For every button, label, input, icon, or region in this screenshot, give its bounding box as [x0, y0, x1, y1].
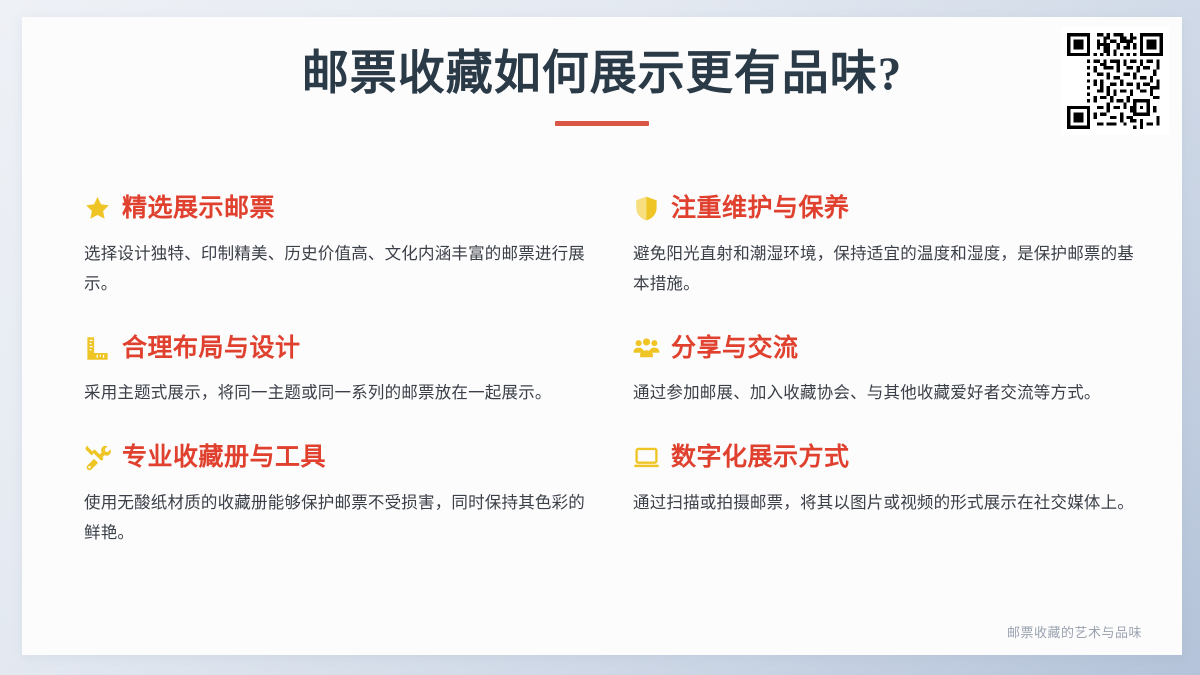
page-title: 邮票收藏如何展示更有品味?	[22, 47, 1182, 101]
ruler-icon	[84, 335, 111, 362]
star-icon	[84, 195, 111, 222]
feature-item-shield[interactable]: 注重维护与保养 避免阳光直射和潮湿环境，保持适宜的温度和湿度，是保护邮票的基本措…	[633, 195, 1134, 299]
qr-code-image	[1067, 33, 1163, 129]
shield-icon	[633, 195, 660, 222]
features-grid: 精选展示邮票 选择设计独特、印制精美、历史价值高、文化内涵丰富的邮票进行展示。 …	[84, 195, 1134, 548]
feature-body: 采用主题式展示，将同一主题或同一系列的邮票放在一起展示。	[84, 378, 585, 408]
slide-card: 邮票收藏如何展示更有品味?	[22, 17, 1182, 655]
slide-frame: 邮票收藏如何展示更有品味?	[0, 0, 1200, 675]
feature-header: 注重维护与保养	[633, 195, 1134, 223]
tools-icon	[84, 444, 111, 471]
feature-title: 分享与交流	[671, 335, 799, 363]
users-group-icon	[633, 335, 660, 362]
feature-title: 精选展示邮票	[122, 195, 275, 223]
feature-header: 合理布局与设计	[84, 335, 585, 363]
feature-item-star[interactable]: 精选展示邮票 选择设计独特、印制精美、历史价值高、文化内涵丰富的邮票进行展示。	[84, 195, 585, 299]
feature-header: 数字化展示方式	[633, 444, 1134, 472]
feature-body: 避免阳光直射和潮湿环境，保持适宜的温度和湿度，是保护邮票的基本措施。	[633, 239, 1134, 299]
feature-item-laptop[interactable]: 数字化展示方式 通过扫描或拍摄邮票，将其以图片或视频的形式展示在社交媒体上。	[633, 444, 1134, 548]
feature-header: 精选展示邮票	[84, 195, 585, 223]
feature-body: 选择设计独特、印制精美、历史价值高、文化内涵丰富的邮票进行展示。	[84, 239, 585, 299]
feature-title: 专业收藏册与工具	[122, 444, 326, 472]
feature-header: 分享与交流	[633, 335, 1134, 363]
feature-item-tools[interactable]: 专业收藏册与工具 使用无酸纸材质的收藏册能够保护邮票不受损害，同时保持其色彩的鲜…	[84, 444, 585, 548]
qr-code[interactable]	[1061, 27, 1169, 135]
title-block: 邮票收藏如何展示更有品味?	[22, 47, 1182, 126]
feature-title: 合理布局与设计	[122, 335, 301, 363]
title-underline-rule	[555, 121, 649, 126]
feature-item-ruler[interactable]: 合理布局与设计 采用主题式展示，将同一主题或同一系列的邮票放在一起展示。	[84, 335, 585, 409]
feature-body: 通过参加邮展、加入收藏协会、与其他收藏爱好者交流等方式。	[633, 378, 1134, 408]
feature-header: 专业收藏册与工具	[84, 444, 585, 472]
feature-body: 使用无酸纸材质的收藏册能够保护邮票不受损害，同时保持其色彩的鲜艳。	[84, 488, 585, 548]
laptop-icon	[633, 444, 660, 471]
feature-title: 注重维护与保养	[671, 195, 850, 223]
feature-body: 通过扫描或拍摄邮票，将其以图片或视频的形式展示在社交媒体上。	[633, 488, 1134, 518]
feature-item-users-group[interactable]: 分享与交流 通过参加邮展、加入收藏协会、与其他收藏爱好者交流等方式。	[633, 335, 1134, 409]
slide-footer: 邮票收藏的艺术与品味	[1007, 622, 1142, 641]
feature-title: 数字化展示方式	[671, 444, 850, 472]
